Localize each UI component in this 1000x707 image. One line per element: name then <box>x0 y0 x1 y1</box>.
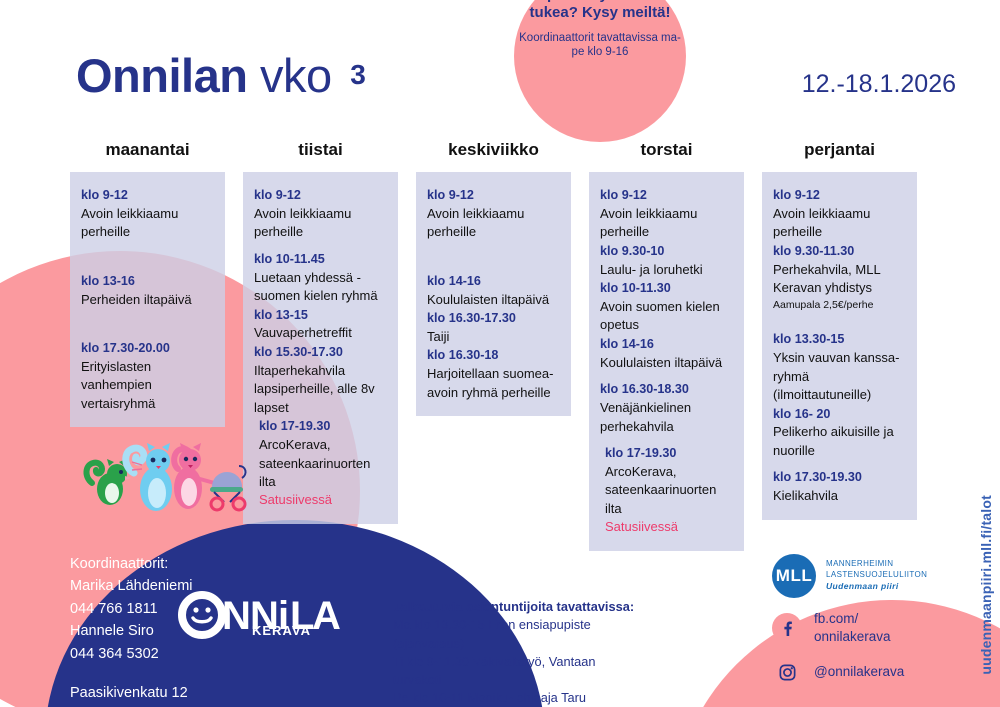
event-time: klo 9-12 <box>773 186 906 205</box>
event-description: Pelikerho aikuisille ja nuorille <box>773 423 906 460</box>
event-time: klo 16.30-18 <box>427 346 560 365</box>
instagram-label[interactable]: @onnilakerava <box>814 663 904 681</box>
day-card-keskiviikko: klo 9-12Avoin leikkiaamu perheilleklo 14… <box>416 172 571 416</box>
day-column-tiistai: tiistaiklo 9-12Avoin leikkiaamu perheill… <box>243 140 398 524</box>
event-item: klo 10-11.45Luetaan yhdessä - suomen kie… <box>254 250 387 306</box>
event-time: klo 9-12 <box>427 186 560 205</box>
experts-heading: Jalkautuvia asiantuntijoita tavattavissa… <box>393 598 683 616</box>
day-card-tiistai: klo 9-12Avoin leikkiaamu perheilleklo 10… <box>243 172 398 524</box>
event-time: klo 14-16 <box>600 335 733 354</box>
event-description: Yksin vauvan kanssa-ryhmä (ilmoittautune… <box>773 349 906 404</box>
event-description: Erityislasten vanhempien vertaisryhmä <box>81 358 214 413</box>
event-time: klo 9-12 <box>254 186 387 205</box>
event-time: klo 17.30-20.00 <box>81 339 214 358</box>
event-item: klo 14-16Koululaisten iltapäivä <box>427 272 560 309</box>
event-note: Aamupala 2,5€/perhe <box>773 298 906 313</box>
event-description: Koululaisten iltapäivä <box>427 291 560 309</box>
facebook-row[interactable]: fb.com/ onnilakerava <box>772 610 927 645</box>
day-column-maanantai: maanantaiklo 9-12Avoin leikkiaamu perhei… <box>70 140 225 427</box>
day-card-torstai: klo 9-12Avoin leikkiaamu perheilleklo 9.… <box>589 172 744 551</box>
event-spacer <box>773 460 906 468</box>
event-item: klo 13-15Vauvaperhetreffit <box>254 306 387 343</box>
experts-line-5: Pe klo 10-11 Moniku- ohjaaja Taru <box>393 689 683 707</box>
experts-line-1: Ma klo 13.30-15 Eron ensiapupiste <box>393 616 683 634</box>
event-item: klo 17.30-20.00Erityislasten vanhempien … <box>81 339 214 413</box>
day-column-torstai: torstaiklo 9-12Avoin leikkiaamu perheill… <box>589 140 744 551</box>
svg-text:KERAVA: KERAVA <box>252 623 311 638</box>
event-item: klo 17.30-19.30Kielikahvila <box>773 468 906 505</box>
event-venue: Satusiivessä <box>259 491 387 509</box>
ask-bubble-heading: Kaipaatko yksilöllistä tukea? Kysy meilt… <box>514 0 686 23</box>
event-item: klo 16.30-18.30Venäjänkielinen perhekahv… <box>600 380 733 436</box>
event-spacer <box>254 242 387 250</box>
website-url[interactable]: uudenmaanpiiri.mll.fi/talot <box>978 495 994 675</box>
page-title: Onnilan vko 3 <box>76 48 365 103</box>
ask-for-support-bubble: Kaipaatko yksilöllistä tukea? Kysy meilt… <box>514 0 686 142</box>
baby-pram-icon <box>210 466 246 510</box>
event-item: klo 16- 20Pelikerho aikuisille ja nuoril… <box>773 405 906 461</box>
event-description: ArcoKerava, sateenkaarinuorten ilta <box>605 463 733 518</box>
event-spacer <box>427 242 560 272</box>
event-time: klo 14-16 <box>427 272 560 291</box>
day-heading-perjantai: perjantai <box>762 140 917 162</box>
event-item: klo 9-12Avoin leikkiaamu perheille <box>600 186 733 242</box>
day-heading-torstai: torstai <box>589 140 744 162</box>
event-description: Harjoitellaan suomea- avoin ryhmä perhei… <box>427 365 560 402</box>
event-item: klo 16.30-18Harjoitellaan suomea- avoin … <box>427 346 560 402</box>
event-time: klo 9-12 <box>81 186 214 205</box>
poster-canvas: Onnilan vko 3 12.-18.1.2026 Kaipaatko yk… <box>0 0 1000 707</box>
event-spacer <box>81 309 214 339</box>
mll-wordmark-line-2: LASTENSUOJELULIITON <box>826 570 927 581</box>
event-item: klo 9.30-11.30Perhekahvila, MLL Keravan … <box>773 242 906 312</box>
event-description: Avoin leikkiaamu perheille <box>600 205 733 242</box>
svg-text:N: N <box>222 594 251 638</box>
facebook-icon[interactable] <box>772 613 802 643</box>
event-time: klo 9.30-10 <box>600 242 733 261</box>
event-description: Perhekahvila, MLL Keravan yhdistys <box>773 261 906 298</box>
event-spacer <box>773 312 906 330</box>
event-description: Venäjänkielinen perhekahvila <box>600 399 733 436</box>
event-description: Avoin leikkiaamu perheille <box>81 205 214 242</box>
event-time: klo 17-19.30 <box>605 444 733 463</box>
day-column-keskiviikko: keskiviikkoklo 9-12Avoin leikkiaamu perh… <box>416 140 571 416</box>
event-description: Vauvaperhetreffit <box>254 324 387 342</box>
event-description: Koululaisten iltapäivä <box>600 354 733 372</box>
date-range: 12.-18.1.2026 <box>802 70 956 99</box>
day-column-perjantai: perjantaiklo 9-12Avoin leikkiaamu perhei… <box>762 140 917 520</box>
experts-line-4: turvakoti <box>393 671 683 689</box>
event-description: Luetaan yhdessä - suomen kielen ryhmä <box>254 269 387 306</box>
instagram-row[interactable]: @onnilakerava <box>772 657 927 687</box>
visiting-experts-block: Jalkautuvia asiantuntijoita tavattavissa… <box>393 598 683 707</box>
experts-line-2: (ajanvaraus) <box>393 635 683 653</box>
event-time: klo 13-16 <box>81 272 214 291</box>
event-item: klo 9.30-10Laulu- ja loruhetki <box>600 242 733 279</box>
onnila-logo: N N i L A KERAVA <box>178 585 348 645</box>
coordinators-label: Koordinaattorit: <box>70 553 193 575</box>
squirrel-family-illustration <box>78 443 248 515</box>
facebook-label[interactable]: fb.com/ onnilakerava <box>814 610 891 645</box>
mll-logo-row: MLL MANNERHEIMIN LASTENSUOJELULIITON Uud… <box>772 554 927 598</box>
event-item: klo 9-12Avoin leikkiaamu perheille <box>773 186 906 242</box>
event-time: klo 9-12 <box>600 186 733 205</box>
mll-wordmark-line-3: Uudenmaan piiri <box>826 581 927 592</box>
event-time: klo 16.30-18.30 <box>600 380 733 399</box>
event-time: klo 13.30-15 <box>773 330 906 349</box>
day-heading-tiistai: tiistai <box>243 140 398 162</box>
mll-branding-block: MLL MANNERHEIMIN LASTENSUOJELULIITON Uud… <box>772 554 927 687</box>
event-venue: Satusiivessä <box>605 518 733 536</box>
instagram-icon[interactable] <box>772 657 802 687</box>
week-number: 3 <box>350 59 365 90</box>
event-time: klo 15.30-17.30 <box>254 343 387 362</box>
event-spacer <box>600 436 733 444</box>
event-description: Avoin suomen kielen opetus <box>600 298 733 335</box>
event-time: klo 13-15 <box>254 306 387 325</box>
mll-logo-icon: MLL <box>772 554 816 598</box>
day-card-maanantai: klo 9-12Avoin leikkiaamu perheilleklo 13… <box>70 172 225 427</box>
event-item: klo 10-11.30Avoin suomen kielen opetus <box>600 279 733 335</box>
coordinator-phone-1[interactable]: 044 766 1811 <box>70 598 193 620</box>
event-description: Perheiden iltapäivä <box>81 291 214 309</box>
mll-wordmark-line-1: MANNERHEIMIN <box>826 559 927 570</box>
event-time: klo 10-11.45 <box>254 250 387 269</box>
facebook-line-1: fb.com/ <box>814 610 891 628</box>
event-time: klo 16- 20 <box>773 405 906 424</box>
event-item: klo 9-12Avoin leikkiaamu perheille <box>254 186 387 242</box>
event-description: Taiji <box>427 328 560 346</box>
event-description: Avoin leikkiaamu perheille <box>254 205 387 242</box>
event-item: klo 9-12Avoin leikkiaamu perheille <box>427 186 560 242</box>
event-item: klo 15.30-17.30Iltaperhekahvila lapsiper… <box>254 343 387 417</box>
facebook-line-2: onnilakerava <box>814 628 891 646</box>
event-item: klo 14-16Koululaisten iltapäivä <box>600 335 733 372</box>
event-time: klo 10-11.30 <box>600 279 733 298</box>
event-item: klo 13-16Perheiden iltapäivä <box>81 272 214 309</box>
day-card-perjantai: klo 9-12Avoin leikkiaamu perheilleklo 9.… <box>762 172 917 520</box>
event-item: klo 17-19.30ArcoKerava, sateenkaarinuort… <box>254 417 387 510</box>
event-item: klo 13.30-15Yksin vauvan kanssa-ryhmä (i… <box>773 330 906 404</box>
page-title-light: vko <box>260 49 332 102</box>
svg-text:A: A <box>312 594 341 638</box>
coordinator-phone-2[interactable]: 044 364 5302 <box>70 643 193 665</box>
page-title-bold: Onnilan <box>76 49 247 102</box>
event-item: klo 16.30-17.30Taiji <box>427 309 560 346</box>
event-time: klo 9.30-11.30 <box>773 242 906 261</box>
coordinator-name-2: Hannele Siro <box>70 620 193 642</box>
event-time: klo 16.30-17.30 <box>427 309 560 328</box>
day-heading-maanantai: maanantai <box>70 140 225 162</box>
event-description: Laulu- ja loruhetki <box>600 261 733 279</box>
ask-bubble-subtext: Koordinaattorit tavattavissa ma-pe klo 9… <box>514 31 686 60</box>
event-item: klo 9-12Avoin leikkiaamu perheille <box>81 186 214 242</box>
coordinators-block: Koordinaattorit: Marika Lähdeniemi 044 7… <box>70 553 193 707</box>
event-time: klo 17-19.30 <box>259 417 387 436</box>
blue-squirrel-icon <box>126 443 172 511</box>
event-item: klo 17-19.30ArcoKerava, sateenkaarinuort… <box>600 444 733 537</box>
event-description: Iltaperhekahvila lapsiperheille, alle 8v… <box>254 362 387 417</box>
mll-wordmark: MANNERHEIMIN LASTENSUOJELULIITON Uudenma… <box>826 559 927 592</box>
event-time: klo 17.30-19.30 <box>773 468 906 487</box>
event-spacer <box>600 372 733 380</box>
event-description: Avoin leikkiaamu perheille <box>773 205 906 242</box>
coordinator-name-1: Marika Lähdeniemi <box>70 575 193 597</box>
event-spacer <box>81 242 214 272</box>
experts-line-3: Ti klo 9-11.30 Väkivaltatyö, Vantaan <box>393 653 683 671</box>
event-description: Kielikahvila <box>773 487 906 505</box>
address-line-1: Paasikivenkatu 12 <box>70 682 193 704</box>
event-description: ArcoKerava, sateenkaarinuorten ilta <box>259 436 387 491</box>
day-heading-keskiviikko: keskiviikko <box>416 140 571 162</box>
event-description: Avoin leikkiaamu perheille <box>427 205 560 242</box>
